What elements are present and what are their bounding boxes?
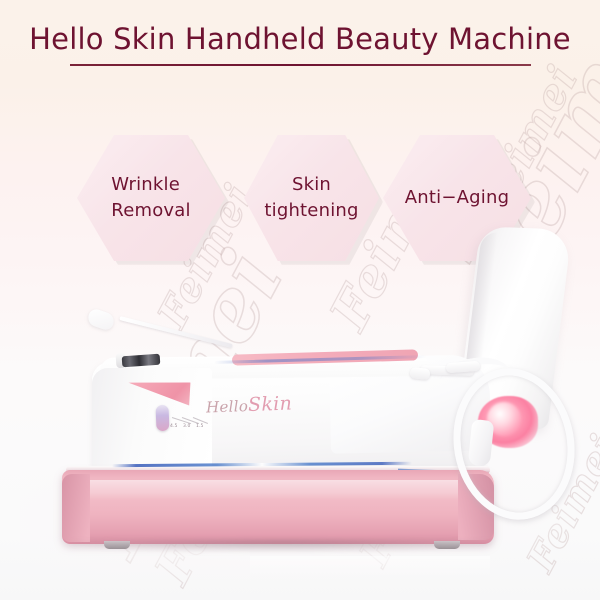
page-title: Hello Skin Handheld Beauty Machine — [0, 22, 600, 56]
feature-badge-label: Skin tightening — [264, 172, 358, 224]
logo-part-lo: lo — [233, 397, 248, 415]
probe-arm — [119, 316, 233, 348]
logo-part-hello: Hel — [206, 398, 234, 417]
intensity-scale: 4.5 3.0 1.5 — [168, 416, 212, 432]
page-title-block: Hello Skin Handheld Beauty Machine — [0, 22, 600, 66]
title-underline — [70, 64, 531, 66]
scale-tick-label: 4.5 — [170, 424, 177, 429]
device-base-left-face — [62, 474, 90, 542]
device-base-highlight — [70, 480, 470, 500]
scale-tick-label: 3.0 — [183, 424, 190, 429]
device-drop-shadow — [72, 540, 492, 552]
feature-badge-label: Wrinkle Removal — [111, 172, 190, 224]
logo-part-skin: Skin — [248, 393, 293, 417]
scale-tick-label: 1.5 — [196, 424, 203, 429]
feature-badge-label: Anti−Aging — [405, 185, 509, 211]
product-poster: Feimei Feimei Feimei Feimei Feimei Feime… — [0, 0, 600, 600]
cable-connector-plug — [409, 367, 430, 380]
device-brand-logo: HelloSkin — [206, 393, 293, 418]
probe-tip — [86, 307, 116, 331]
